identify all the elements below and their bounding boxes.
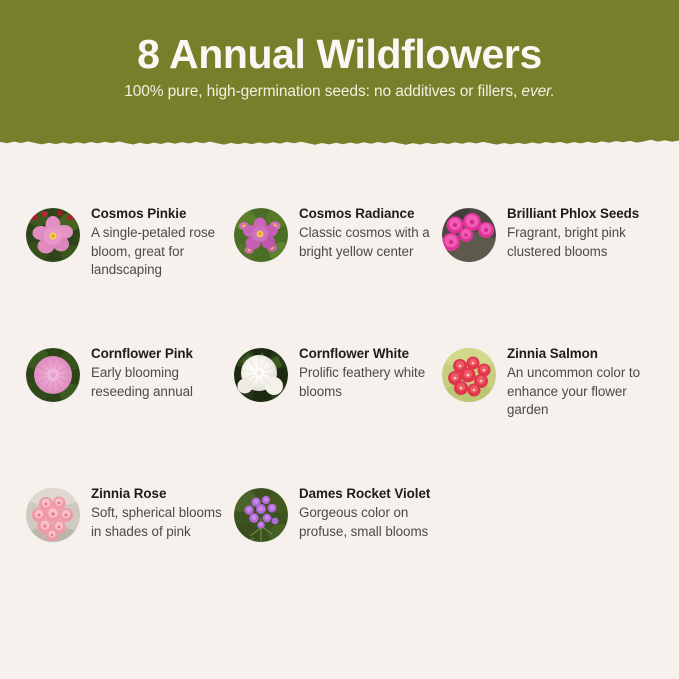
header-text-block: 8 Annual Wildflowers 100% pure, high-ger…	[0, 0, 679, 130]
item-text-block: Brilliant Phlox Seeds Fragrant, bright p…	[507, 196, 653, 261]
dames-rocket-violet-photo-thumbnail	[234, 488, 288, 542]
torn-paper-edge	[0, 120, 679, 160]
zinnia-rose-photo-thumbnail	[26, 488, 80, 542]
item-name: Cornflower Pink	[91, 345, 234, 363]
item-name: Cornflower White	[299, 345, 442, 363]
item-text-block: Zinnia Rose Soft, spherical blooms in sh…	[91, 476, 234, 541]
header-banner: 8 Annual Wildflowers 100% pure, high-ger…	[0, 0, 679, 160]
item-description: Classic cosmos with a bright yellow cent…	[299, 224, 442, 261]
item-text-block: Cornflower White Prolific feathery white…	[299, 336, 442, 401]
item-name: Dames Rocket Violet	[299, 485, 442, 503]
item-text-block: Cosmos Radiance Classic cosmos with a br…	[299, 196, 442, 261]
cornflower-white-photo-thumbnail	[234, 348, 288, 402]
item-description: Fragrant, bright pink clustered blooms	[507, 224, 653, 261]
subtitle-emphasis-text: ever.	[521, 83, 554, 100]
item-name: Zinnia Rose	[91, 485, 234, 503]
cosmos-pinkie-photo-thumbnail	[26, 208, 80, 262]
cornflower-pink-photo-thumbnail	[26, 348, 80, 402]
item-description: Soft, spherical blooms in shades of pink	[91, 504, 234, 541]
item-name: Brilliant Phlox Seeds	[507, 205, 653, 223]
item-name: Cosmos Pinkie	[91, 205, 234, 223]
item-name: Zinnia Salmon	[507, 345, 653, 363]
item-text-block: Zinnia Salmon An uncommon color to enhan…	[507, 336, 653, 420]
list-item[interactable]: Dames Rocket Violet Gorgeous color on pr…	[234, 476, 442, 616]
item-description: A single-petaled rose bloom, great for l…	[91, 224, 234, 280]
item-description: Gorgeous color on profuse, small blooms	[299, 504, 442, 541]
list-item[interactable]: Zinnia Rose Soft, spherical blooms in sh…	[26, 476, 234, 616]
item-text-block: Cornflower Pink Early blooming reseeding…	[91, 336, 234, 401]
item-name: Cosmos Radiance	[299, 205, 442, 223]
list-item[interactable]: Cornflower White Prolific feathery white…	[234, 336, 442, 476]
list-item[interactable]: Cosmos Pinkie A single-petaled rose bloo…	[26, 196, 234, 336]
subtitle-main-text: 100% pure, high-germination seeds: no ad…	[124, 83, 521, 100]
item-text-block: Dames Rocket Violet Gorgeous color on pr…	[299, 476, 442, 541]
zinnia-salmon-photo-thumbnail	[442, 348, 496, 402]
item-description: Prolific feathery white blooms	[299, 364, 442, 401]
wildflower-seed-infographic: 8 Annual Wildflowers 100% pure, high-ger…	[0, 0, 679, 679]
list-item[interactable]: Cosmos Radiance Classic cosmos with a br…	[234, 196, 442, 336]
wildflower-list: Cosmos Pinkie A single-petaled rose bloo…	[0, 196, 679, 616]
list-item[interactable]: Brilliant Phlox Seeds Fragrant, bright p…	[442, 196, 653, 336]
item-description: An uncommon color to enhance your flower…	[507, 364, 653, 420]
item-description: Early blooming reseeding annual	[91, 364, 234, 401]
page-title: 8 Annual Wildflowers	[137, 33, 542, 76]
item-text-block: Cosmos Pinkie A single-petaled rose bloo…	[91, 196, 234, 280]
cosmos-radiance-photo-thumbnail	[234, 208, 288, 262]
brilliant-phlox-photo-thumbnail	[442, 208, 496, 262]
page-subtitle: 100% pure, high-germination seeds: no ad…	[124, 83, 555, 102]
list-item[interactable]: Cornflower Pink Early blooming reseeding…	[26, 336, 234, 476]
list-item[interactable]: Zinnia Salmon An uncommon color to enhan…	[442, 336, 653, 476]
